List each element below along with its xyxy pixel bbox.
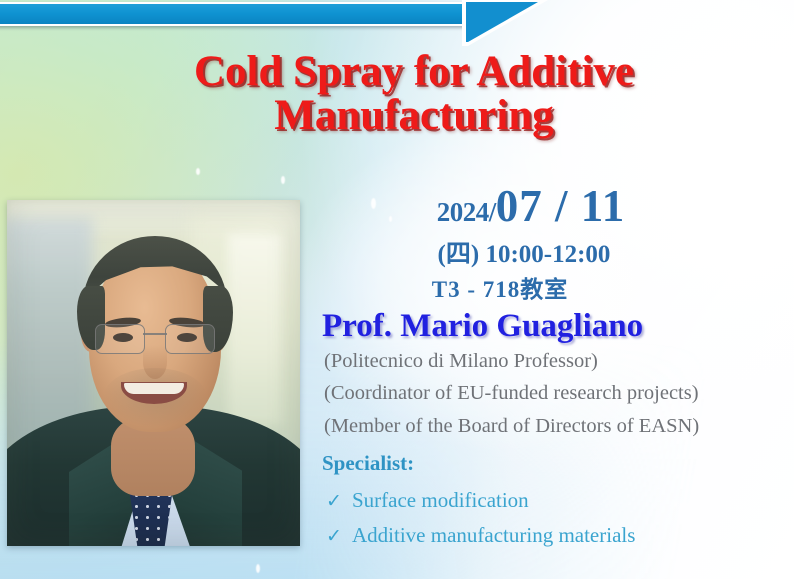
page-title: Cold Spray for Additive Manufacturing: [96, 50, 732, 138]
list-item: ✓ Surface modification: [326, 483, 794, 518]
check-icon: ✓: [326, 522, 352, 553]
event-date: 2024/07 / 11: [302, 184, 794, 229]
speaker-name: Prof. Mario Guagliano: [302, 308, 794, 345]
list-item-label: Additive manufacturing materials: [352, 518, 635, 552]
event-info-column: 2024/07 / 11 (四) 10:00-12:00 T3 - 718教室 …: [302, 184, 794, 553]
event-room: T3 - 718教室: [302, 277, 794, 302]
speaker-affiliation-2: (Coordinator of EU-funded research proje…: [302, 377, 794, 409]
event-date-main: 07 / 11: [496, 181, 626, 231]
event-date-year: 2024/: [437, 197, 496, 227]
specialist-list: ✓ Surface modification ✓ Additive manufa…: [302, 483, 794, 553]
photo-vignette: [7, 200, 300, 546]
list-item-label: Surface modification: [352, 483, 529, 517]
event-time: (四) 10:00-12:00: [302, 241, 794, 269]
poster-canvas: Cold Spray for Additive Manufacturing 20…: [0, 0, 794, 579]
specialist-heading: Specialist:: [302, 451, 794, 476]
speaker-photo: [7, 200, 300, 546]
speaker-affiliation-3: (Member of the Board of Directors of EAS…: [302, 410, 794, 442]
check-icon: ✓: [326, 487, 352, 518]
speaker-affiliation-1: (Politecnico di Milano Professor): [302, 345, 794, 377]
list-item: ✓ Additive manufacturing materials: [326, 518, 794, 553]
